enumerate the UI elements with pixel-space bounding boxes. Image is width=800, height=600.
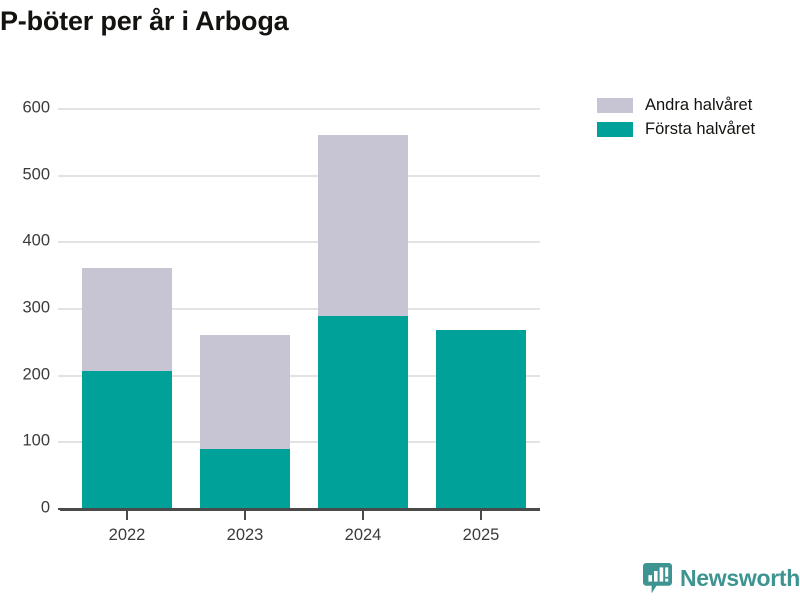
bar-2025[interactable] (436, 330, 526, 508)
y-axis-tick-label: 300 (22, 299, 50, 318)
y-axis-tick (58, 175, 68, 177)
y-axis-tick (58, 375, 68, 377)
x-axis-tick (244, 511, 246, 520)
bar-2023[interactable] (200, 335, 290, 508)
brand-name: Newsworthy (680, 565, 800, 592)
x-axis-tick-label: 2024 (345, 526, 382, 545)
legend-swatch-icon (597, 122, 633, 137)
x-axis-tick-label: 2025 (463, 526, 500, 545)
bar-2024[interactable] (318, 135, 408, 508)
y-axis-tick-label: 100 (22, 432, 50, 451)
x-axis-tick-label: 2022 (109, 526, 146, 545)
bar-2022[interactable] (82, 268, 172, 508)
y-axis-tick-label: 0 (41, 499, 50, 518)
bar-segment-forsta-halvaret[interactable] (436, 330, 526, 508)
y-axis-tick (58, 241, 68, 243)
x-axis-tick (126, 511, 128, 520)
y-axis-tick-label: 400 (22, 232, 50, 251)
y-axis-tick (58, 108, 68, 110)
legend-label: Första halvåret (645, 120, 755, 139)
y-axis-tick (58, 441, 68, 443)
bar-segment-forsta-halvaret[interactable] (318, 316, 408, 508)
page-title: P-böter per år i Arboga (0, 6, 288, 37)
chart-legend: Andra halvåret Första halvåret (597, 96, 755, 138)
gridline (68, 175, 540, 177)
gridline (68, 241, 540, 243)
x-axis-tick (362, 511, 364, 520)
bar-segment-forsta-halvaret[interactable] (82, 371, 172, 508)
newsworthy-logo: Newsworthy (643, 563, 800, 594)
gridline (68, 108, 540, 110)
x-axis-line (60, 508, 540, 511)
y-axis-tick-label: 500 (22, 165, 50, 184)
bar-segment-andra-halvaret[interactable] (200, 335, 290, 449)
y-axis-tick-label: 200 (22, 365, 50, 384)
chart-plot-area: 0100200300400500600 2022202320242025 (68, 108, 540, 508)
y-axis-tick-label: 600 (22, 99, 50, 118)
x-axis-tick-label: 2023 (227, 526, 264, 545)
legend-item-forsta-halvaret[interactable]: Första halvåret (597, 120, 755, 138)
bar-chart-bubble-icon (643, 563, 672, 594)
x-axis-tick (480, 511, 482, 520)
y-axis-tick (58, 308, 68, 310)
bar-segment-forsta-halvaret[interactable] (200, 449, 290, 508)
bar-segment-andra-halvaret[interactable] (318, 135, 408, 316)
legend-item-andra-halvaret[interactable]: Andra halvåret (597, 96, 755, 114)
bar-segment-andra-halvaret[interactable] (82, 268, 172, 371)
legend-label: Andra halvåret (645, 96, 752, 115)
legend-swatch-icon (597, 98, 633, 113)
